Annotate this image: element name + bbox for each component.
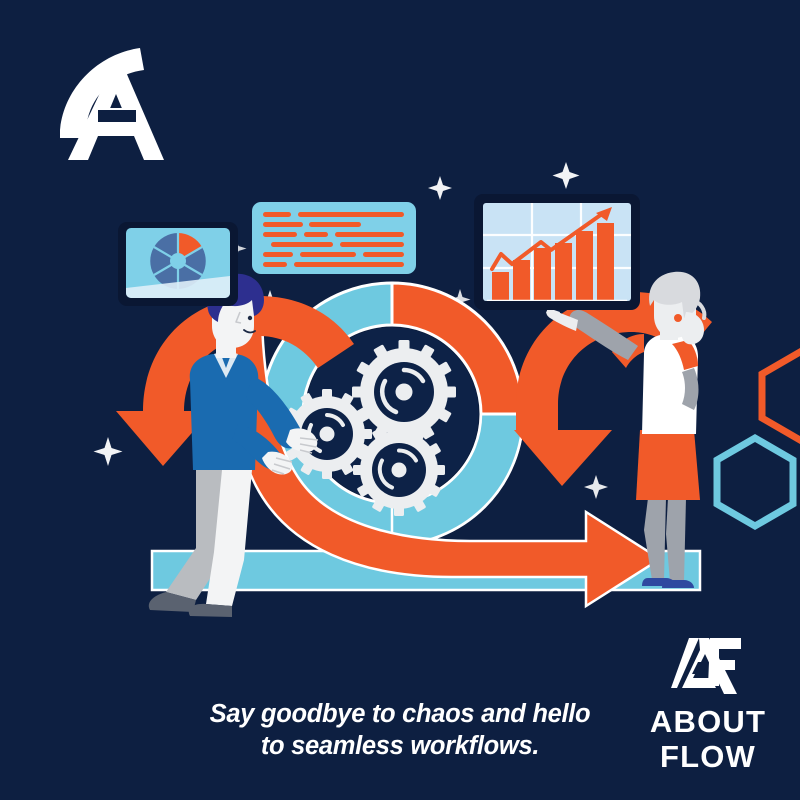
bar-chart-panel [474, 194, 640, 310]
brand-lockup[interactable]: ABOUT FLOW [628, 636, 788, 774]
tagline: Say goodbye to chaos and hello to seamle… [150, 698, 650, 762]
tagline-line-1: Say goodbye to chaos and hello [150, 698, 650, 730]
brand-line-2: FLOW [628, 739, 788, 774]
document-text-panel [252, 202, 416, 274]
poster-canvas: Say goodbye to chaos and hello to seamle… [0, 0, 800, 800]
pie-chart-panel [118, 222, 238, 306]
logo-crossbar-cut [98, 110, 136, 122]
about-flow-monogram[interactable] [28, 26, 176, 166]
brand-line-1: ABOUT [628, 704, 788, 739]
tagline-line-2: to seamless workflows. [150, 730, 650, 762]
about-flow-logo-mark [669, 636, 747, 698]
